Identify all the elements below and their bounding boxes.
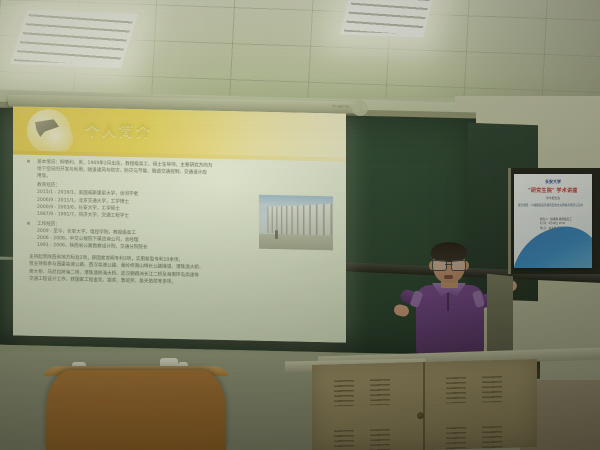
cabinet-vent <box>482 376 502 403</box>
ceiling-light-right <box>340 0 434 37</box>
classroom-photo: Projector 个人简介 <box>0 0 600 450</box>
bullet-marker <box>27 222 30 225</box>
glasses-icon <box>432 260 466 269</box>
light-louvers <box>14 13 134 65</box>
slide-bullet-work: 工作经历： 2009 - 至今，长安大学，电控学院，教授级高工 2006 - 2… <box>23 220 338 255</box>
presenter-mouth <box>444 275 453 279</box>
cabinet-vent <box>334 430 354 450</box>
light-louvers <box>344 0 430 34</box>
poster-headline: "研究生院" 学术讲座 <box>514 187 592 194</box>
wall-poster: 长安大学 "研究生院" 学术讲座 学术报告会 报告题目：公路隧道运营通风及防灾关… <box>514 174 592 268</box>
slide-title: 个人简介 <box>85 120 153 141</box>
presenter-hair <box>431 242 467 262</box>
glasses-lens-right <box>451 260 466 271</box>
cabinet-vent <box>334 380 354 407</box>
bullet-marker <box>27 160 30 163</box>
equipment-cabinet[interactable] <box>312 359 537 450</box>
ceiling-shadow <box>420 0 600 108</box>
glasses-lens-left <box>432 260 447 271</box>
cabinet-door-seam <box>423 362 425 450</box>
cabinet-vent <box>446 377 466 404</box>
cabinet-vent <box>482 426 502 450</box>
cabinet-vent <box>370 379 390 406</box>
slide-paragraph: 主持起草陕西省地方标准2项，获国家发明专利3项，实用新型专利10余项， 曾主持和… <box>23 254 338 289</box>
cabinet-vent <box>370 429 390 450</box>
slide-body: 基本情况：柳墩利，男，1969年2月出生，教授级高工、硕士生导师，主要研究方向为… <box>23 159 338 339</box>
wooden-desk <box>46 370 226 450</box>
ceiling-light-left <box>10 10 138 68</box>
poster-subline: 学术报告会 <box>514 196 592 200</box>
poster-body: 报告题目：公路隧道运营通风及防灾关键技术研究与应用 <box>518 204 588 208</box>
screen-mount-bracket <box>352 100 368 116</box>
poster-org: 长安大学 <box>514 179 592 185</box>
poster-wave-graphic <box>514 222 592 268</box>
projection-screen: 个人简介 基本情况：柳墩利，男，1969年2月出生，教授级高工、硕士生导师，主要… <box>13 106 346 342</box>
slide-header-band: 个人简介 <box>13 106 346 161</box>
housing-label: Projector <box>332 104 350 108</box>
cabinet-vent <box>446 427 466 450</box>
slide: 个人简介 基本情况：柳墩利，男，1969年2月出生，教授级高工、硕士生导师，主要… <box>13 106 346 342</box>
presenter-placket <box>447 293 449 311</box>
slide-bullet-education: 教育经历： 2015/1 - 2016/1，美国威斯康星大学，访问学者 2006… <box>23 182 338 224</box>
